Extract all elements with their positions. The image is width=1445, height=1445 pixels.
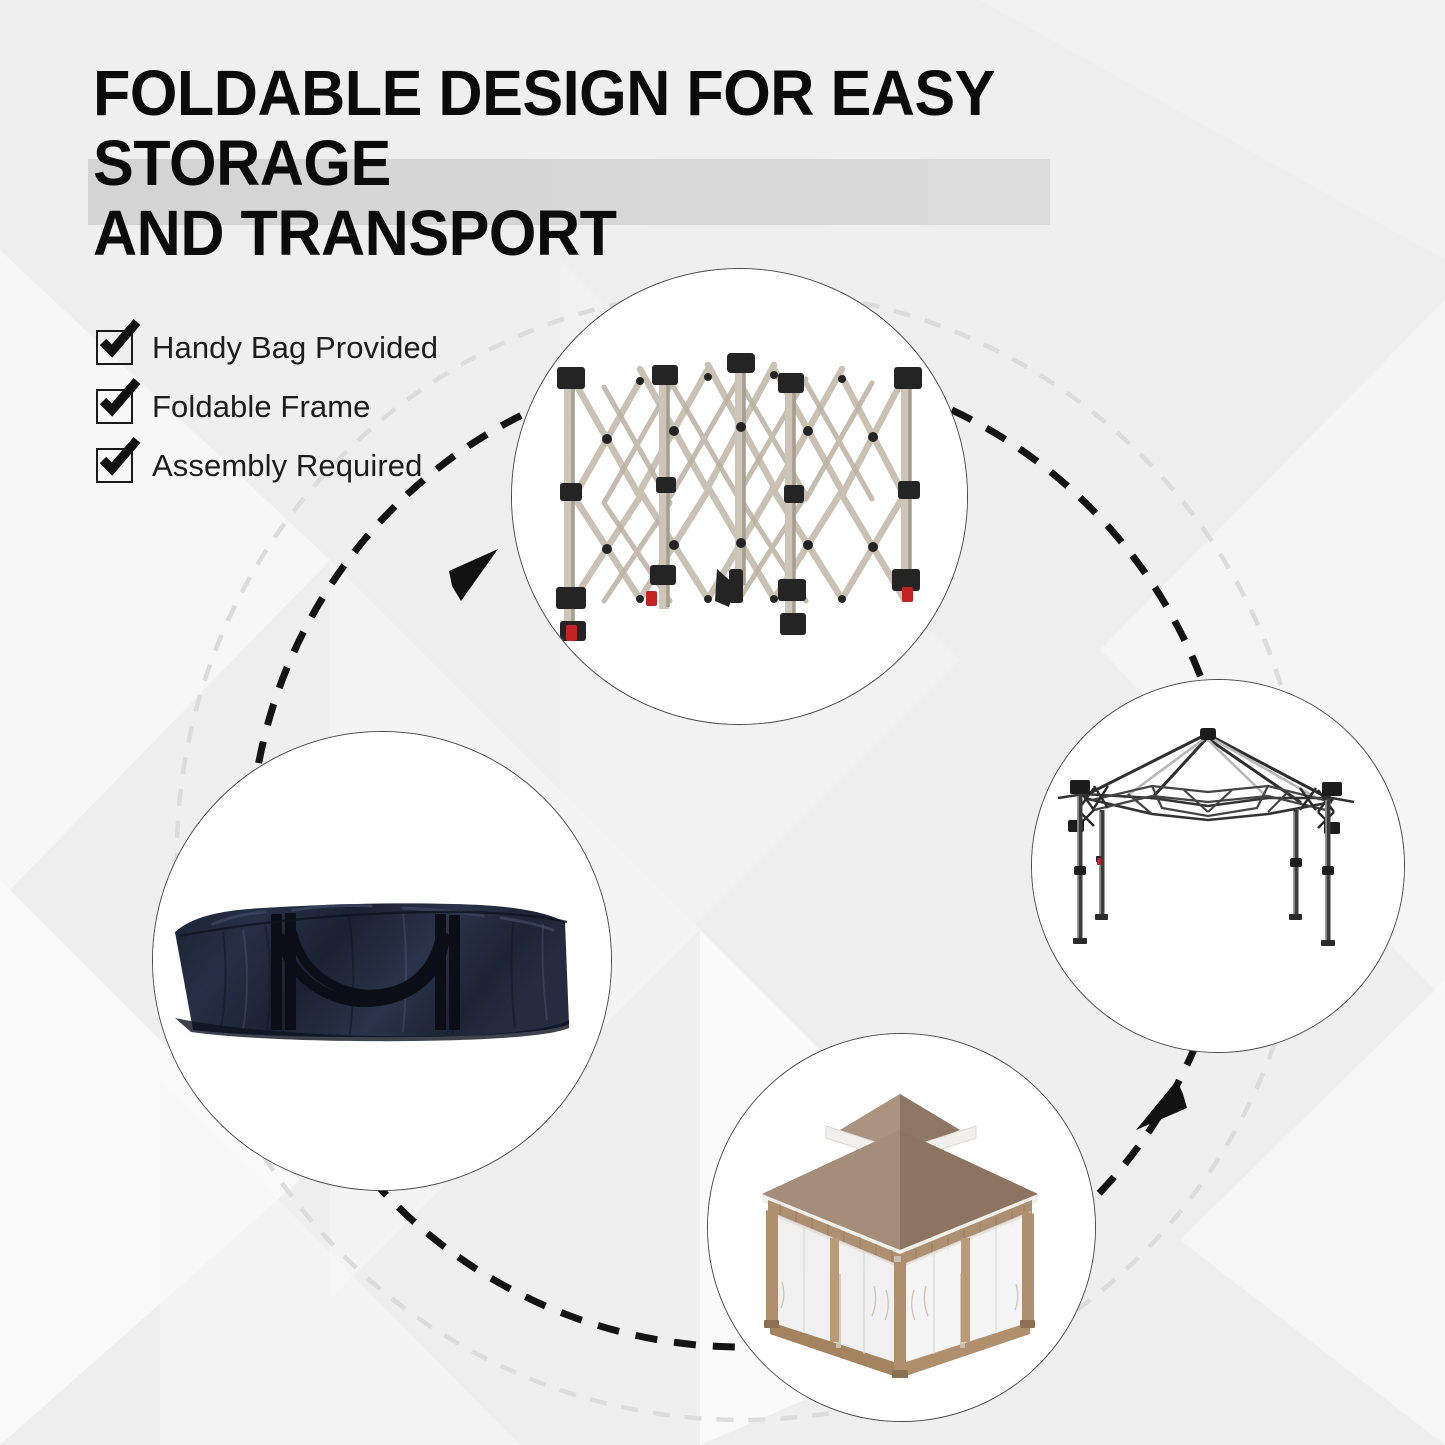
checkbox-checked-icon[interactable] bbox=[96, 389, 133, 424]
feature-label: Handy Bag Provided bbox=[152, 330, 438, 366]
checkbox-checked-icon[interactable] bbox=[96, 448, 133, 483]
cycle-step-folded-frame[interactable] bbox=[511, 268, 968, 725]
feature-label: Assembly Required bbox=[152, 448, 422, 484]
checkbox-checked-icon[interactable] bbox=[96, 330, 133, 365]
feature-checklist: Handy Bag Provided Foldable Frame Assemb… bbox=[96, 318, 438, 495]
navy-carry-bag-photo bbox=[153, 732, 611, 1190]
page-title: FOLDABLE DESIGN FOR EASY STORAGE AND TRA… bbox=[93, 58, 1306, 268]
feature-item-foldable-frame: Foldable Frame bbox=[96, 377, 438, 436]
expanded-gazebo-frame-photo bbox=[1032, 680, 1404, 1052]
cycle-step-expanded-frame[interactable] bbox=[1031, 679, 1405, 1053]
feature-item-handy-bag: Handy Bag Provided bbox=[96, 318, 438, 377]
assembled-gazebo-photo bbox=[708, 1034, 1095, 1421]
cycle-step-assembled-gazebo[interactable] bbox=[707, 1033, 1096, 1422]
cycle-step-carry-bag[interactable] bbox=[152, 731, 612, 1191]
headline-block: FOLDABLE DESIGN FOR EASY STORAGE AND TRA… bbox=[0, 0, 1445, 250]
feature-label: Foldable Frame bbox=[152, 389, 371, 425]
infographic-canvas: FOLDABLE DESIGN FOR EASY STORAGE AND TRA… bbox=[0, 0, 1445, 1445]
feature-item-assembly-required: Assembly Required bbox=[96, 436, 438, 495]
folded-scissor-frame-photo bbox=[512, 269, 967, 724]
